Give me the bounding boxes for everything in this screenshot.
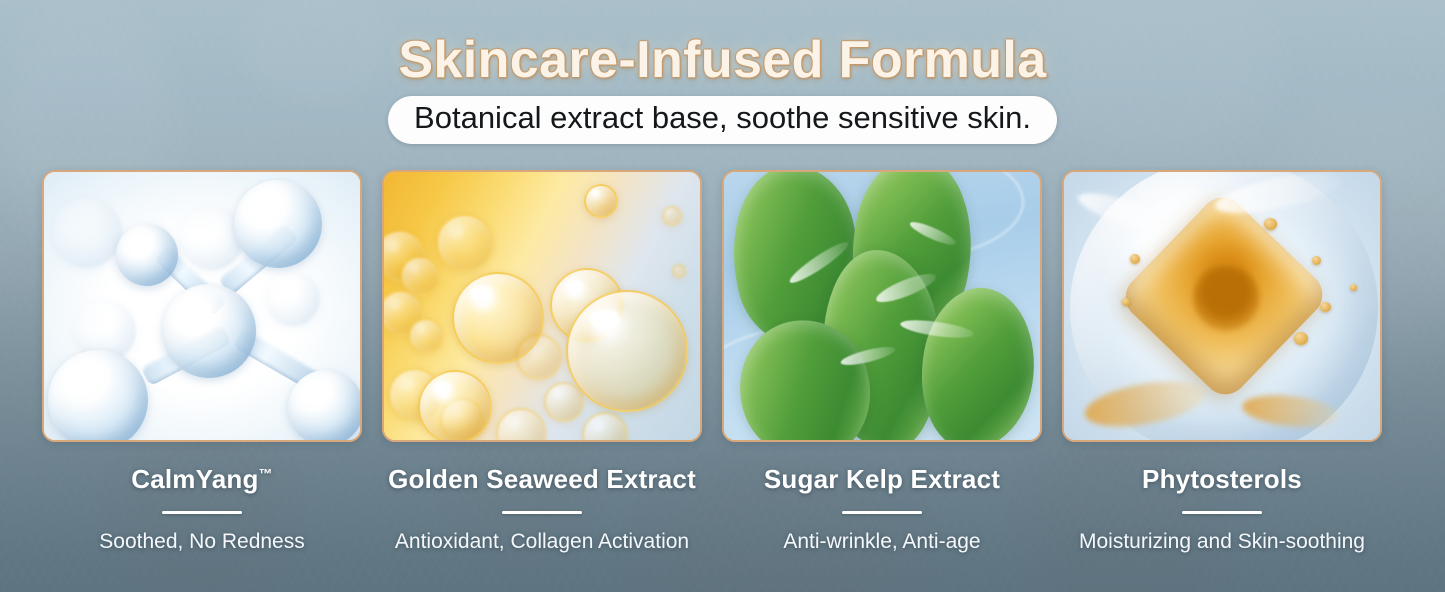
page-title: Skincare-Infused Formula [0, 30, 1445, 90]
ingredient-card-phytosterols[interactable]: Phytosterols Moisturizing and Skin-sooth… [1062, 170, 1382, 554]
green-kelp-image [724, 172, 1040, 440]
amber-crystal-image [1064, 172, 1380, 440]
ingredient-card-sugar-kelp[interactable]: Sugar Kelp Extract Anti-wrinkle, Anti-ag… [722, 170, 1042, 554]
ingredient-name-phytosterols: Phytosterols [1062, 464, 1382, 495]
ingredient-card-row: CalmYang™ Soothed, No Redness [42, 170, 1404, 554]
ingredient-name-text: Golden Seaweed Extract [388, 464, 696, 494]
ingredient-thumbnail-calmyang[interactable] [42, 170, 362, 442]
ingredient-card-golden-seaweed[interactable]: Golden Seaweed Extract Antioxidant, Coll… [382, 170, 702, 554]
ingredient-benefit-golden-seaweed: Antioxidant, Collagen Activation [382, 530, 702, 554]
caption-divider [502, 511, 582, 514]
ingredient-thumbnail-golden-seaweed[interactable] [382, 170, 702, 442]
caption-divider [1182, 511, 1262, 514]
ingredient-name-calmyang: CalmYang™ [42, 464, 362, 495]
ingredient-thumbnail-phytosterols[interactable] [1062, 170, 1382, 442]
ingredient-card-calmyang[interactable]: CalmYang™ Soothed, No Redness [42, 170, 362, 554]
ingredient-name-sugar-kelp: Sugar Kelp Extract [722, 464, 1042, 495]
banner-header: Skincare-Infused Formula Botanical extra… [0, 0, 1445, 144]
amber-core-highlight [1179, 251, 1274, 346]
subtitle-container: Botanical extract base, soothe sensitive… [0, 96, 1445, 144]
golden-oil-bubbles-image [384, 172, 700, 440]
ingredient-name-text: CalmYang [131, 464, 258, 494]
caption-divider [842, 511, 922, 514]
caption-divider [162, 511, 242, 514]
subtitle-pill: Botanical extract base, soothe sensitive… [388, 96, 1057, 144]
ingredient-name-text: Phytosterols [1142, 464, 1302, 494]
ingredient-benefit-phytosterols: Moisturizing and Skin-soothing [1062, 530, 1382, 554]
ingredient-benefit-sugar-kelp: Anti-wrinkle, Anti-age [722, 530, 1042, 554]
skincare-ingredient-banner: Skincare-Infused Formula Botanical extra… [0, 0, 1445, 592]
glass-molecule-image [44, 172, 360, 440]
ingredient-name-golden-seaweed: Golden Seaweed Extract [382, 464, 702, 495]
ingredient-thumbnail-sugar-kelp[interactable] [722, 170, 1042, 442]
ingredient-benefit-calmyang: Soothed, No Redness [42, 530, 362, 554]
ingredient-name-text: Sugar Kelp Extract [764, 464, 1000, 494]
trademark-symbol: ™ [259, 465, 273, 481]
